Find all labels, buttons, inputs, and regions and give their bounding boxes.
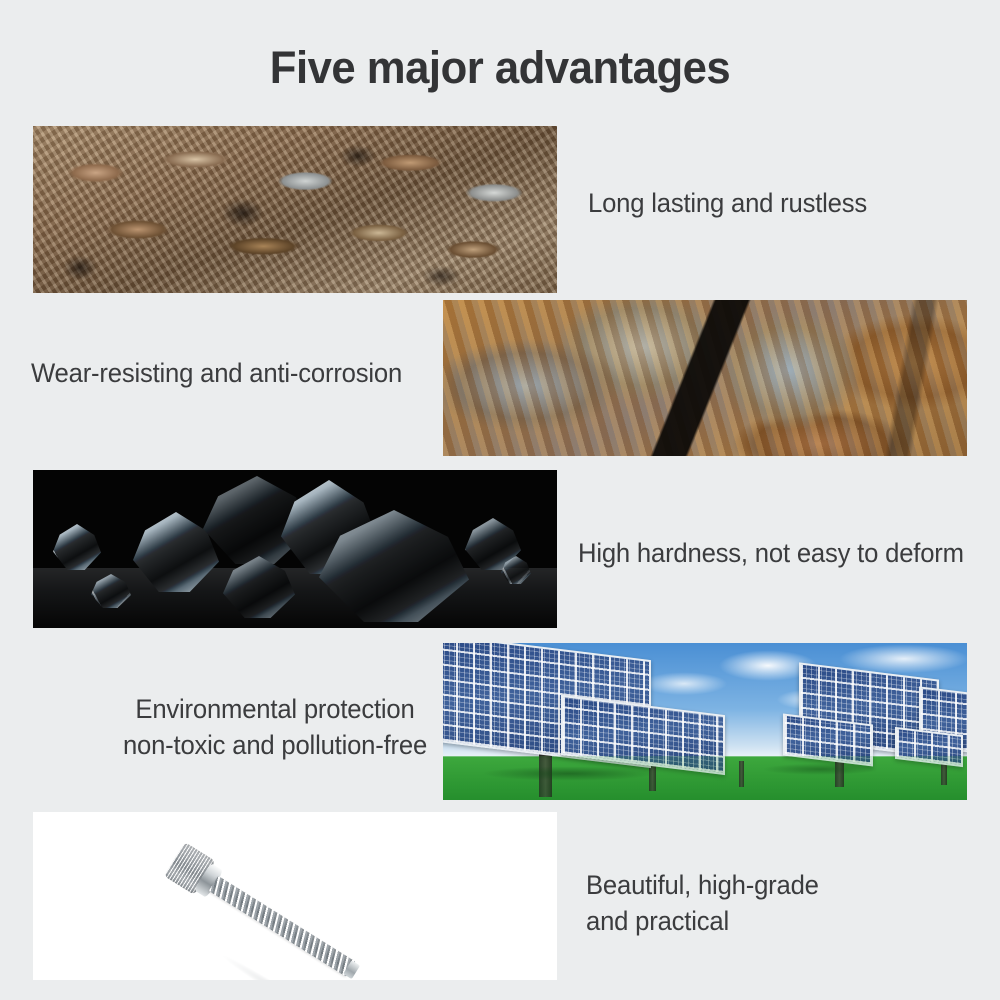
advantage-caption-2: Wear-resisting and anti-corrosion <box>31 356 402 392</box>
page-title: Five major advantages <box>15 42 985 94</box>
advantage-caption-3: High hardness, not easy to deform <box>578 536 964 572</box>
pile-of-rusty-screws-photo <box>33 126 557 293</box>
advantages-infographic: Five major advantages Long lasting and r… <box>0 0 1000 1000</box>
screw-illustration <box>127 842 363 980</box>
advantage-caption-1: Long lasting and rustless <box>588 186 867 222</box>
screw-threaded-shank <box>209 876 356 977</box>
diamonds-photo <box>33 470 557 628</box>
advantage-caption-5: Beautiful, high-grade and practical <box>586 868 819 939</box>
diamond-shape <box>53 524 101 570</box>
solar-panel-farm-photo <box>443 643 967 800</box>
screws-shadow-overlay <box>33 126 557 293</box>
rusty-steel-bars-photo <box>443 300 967 456</box>
grass-layer <box>443 756 967 800</box>
stainless-steel-screw-photo <box>33 812 557 980</box>
advantage-caption-4: Environmental protection non-toxic and p… <box>110 692 441 763</box>
